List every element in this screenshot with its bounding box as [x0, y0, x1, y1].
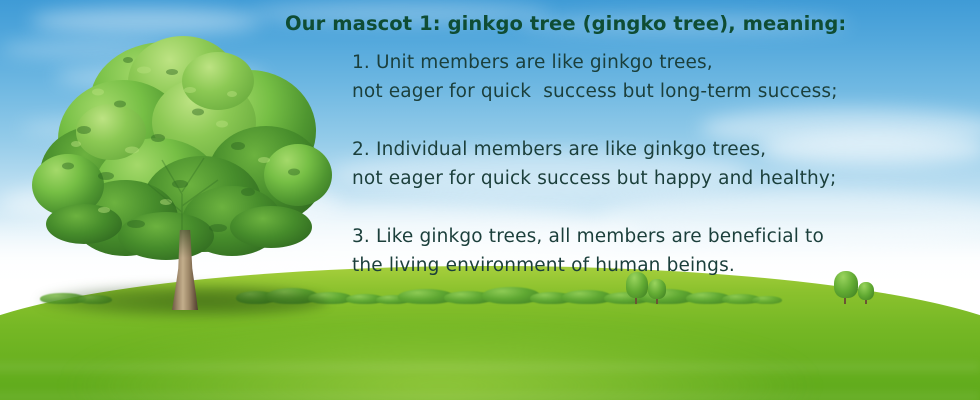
page-title: Our mascot 1: ginkgo tree (gingko tree),…: [285, 12, 846, 35]
meaning-item-3: 3. Like ginkgo trees, all members are be…: [352, 222, 824, 280]
text-overlay: Our mascot 1: ginkgo tree (gingko tree),…: [0, 0, 980, 400]
meaning-item-1: 1. Unit members are like ginkgo trees, n…: [352, 48, 838, 106]
mascot-banner: Our mascot 1: ginkgo tree (gingko tree),…: [0, 0, 980, 400]
meaning-item-2: 2. Individual members are like ginkgo tr…: [352, 135, 836, 193]
